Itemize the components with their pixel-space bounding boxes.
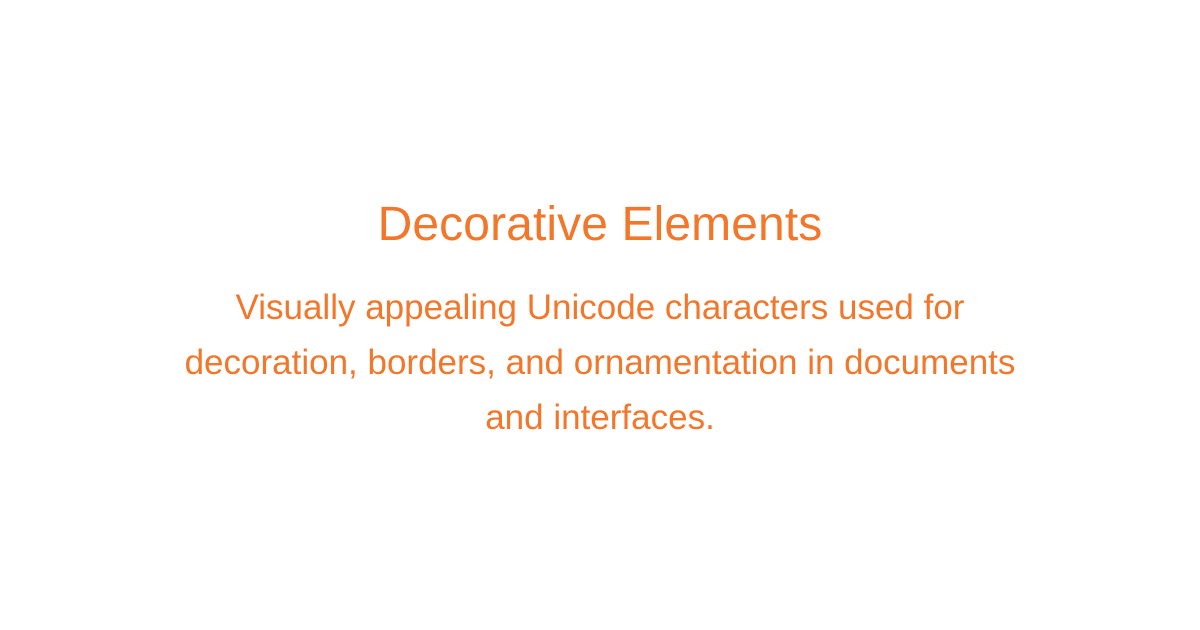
subtitle-line-1: Visually appealing Unicode characters us… [80, 280, 1120, 335]
subtitle-line-2: decoration, borders, and ornamentation i… [80, 335, 1120, 390]
title-card: Decorative Elements Visually appealing U… [0, 0, 1200, 630]
page-title: Decorative Elements [70, 196, 1130, 253]
title-subtitle-spacer [70, 253, 1130, 280]
hero-text-block: Decorative Elements Visually appealing U… [70, 196, 1130, 445]
page-subtitle: Visually appealing Unicode characters us… [80, 280, 1120, 445]
subtitle-line-3: and interfaces. [80, 390, 1120, 445]
